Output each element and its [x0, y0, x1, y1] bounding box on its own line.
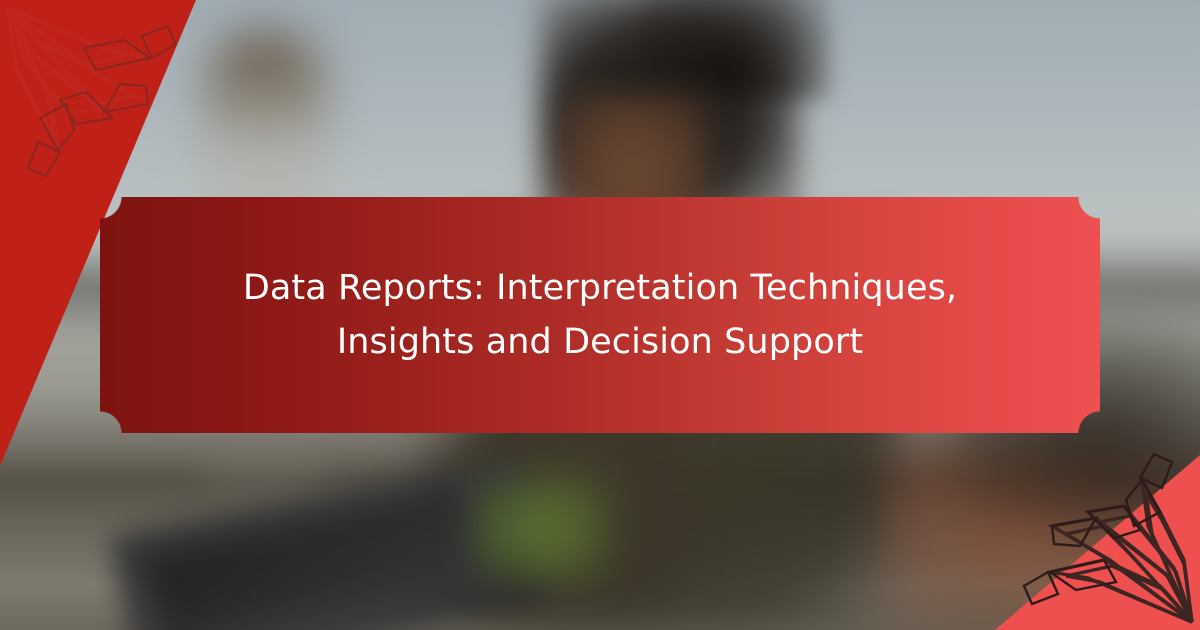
- title-line-1: Data Reports: Interpretation Techniques,: [180, 261, 1020, 315]
- title-line-2: Insights and Decision Support: [180, 315, 1020, 369]
- title-banner: Data Reports: Interpretation Techniques,…: [100, 197, 1100, 433]
- social-share-card: Data Reports: Interpretation Techniques,…: [0, 0, 1200, 630]
- page-title: Data Reports: Interpretation Techniques,…: [160, 261, 1040, 369]
